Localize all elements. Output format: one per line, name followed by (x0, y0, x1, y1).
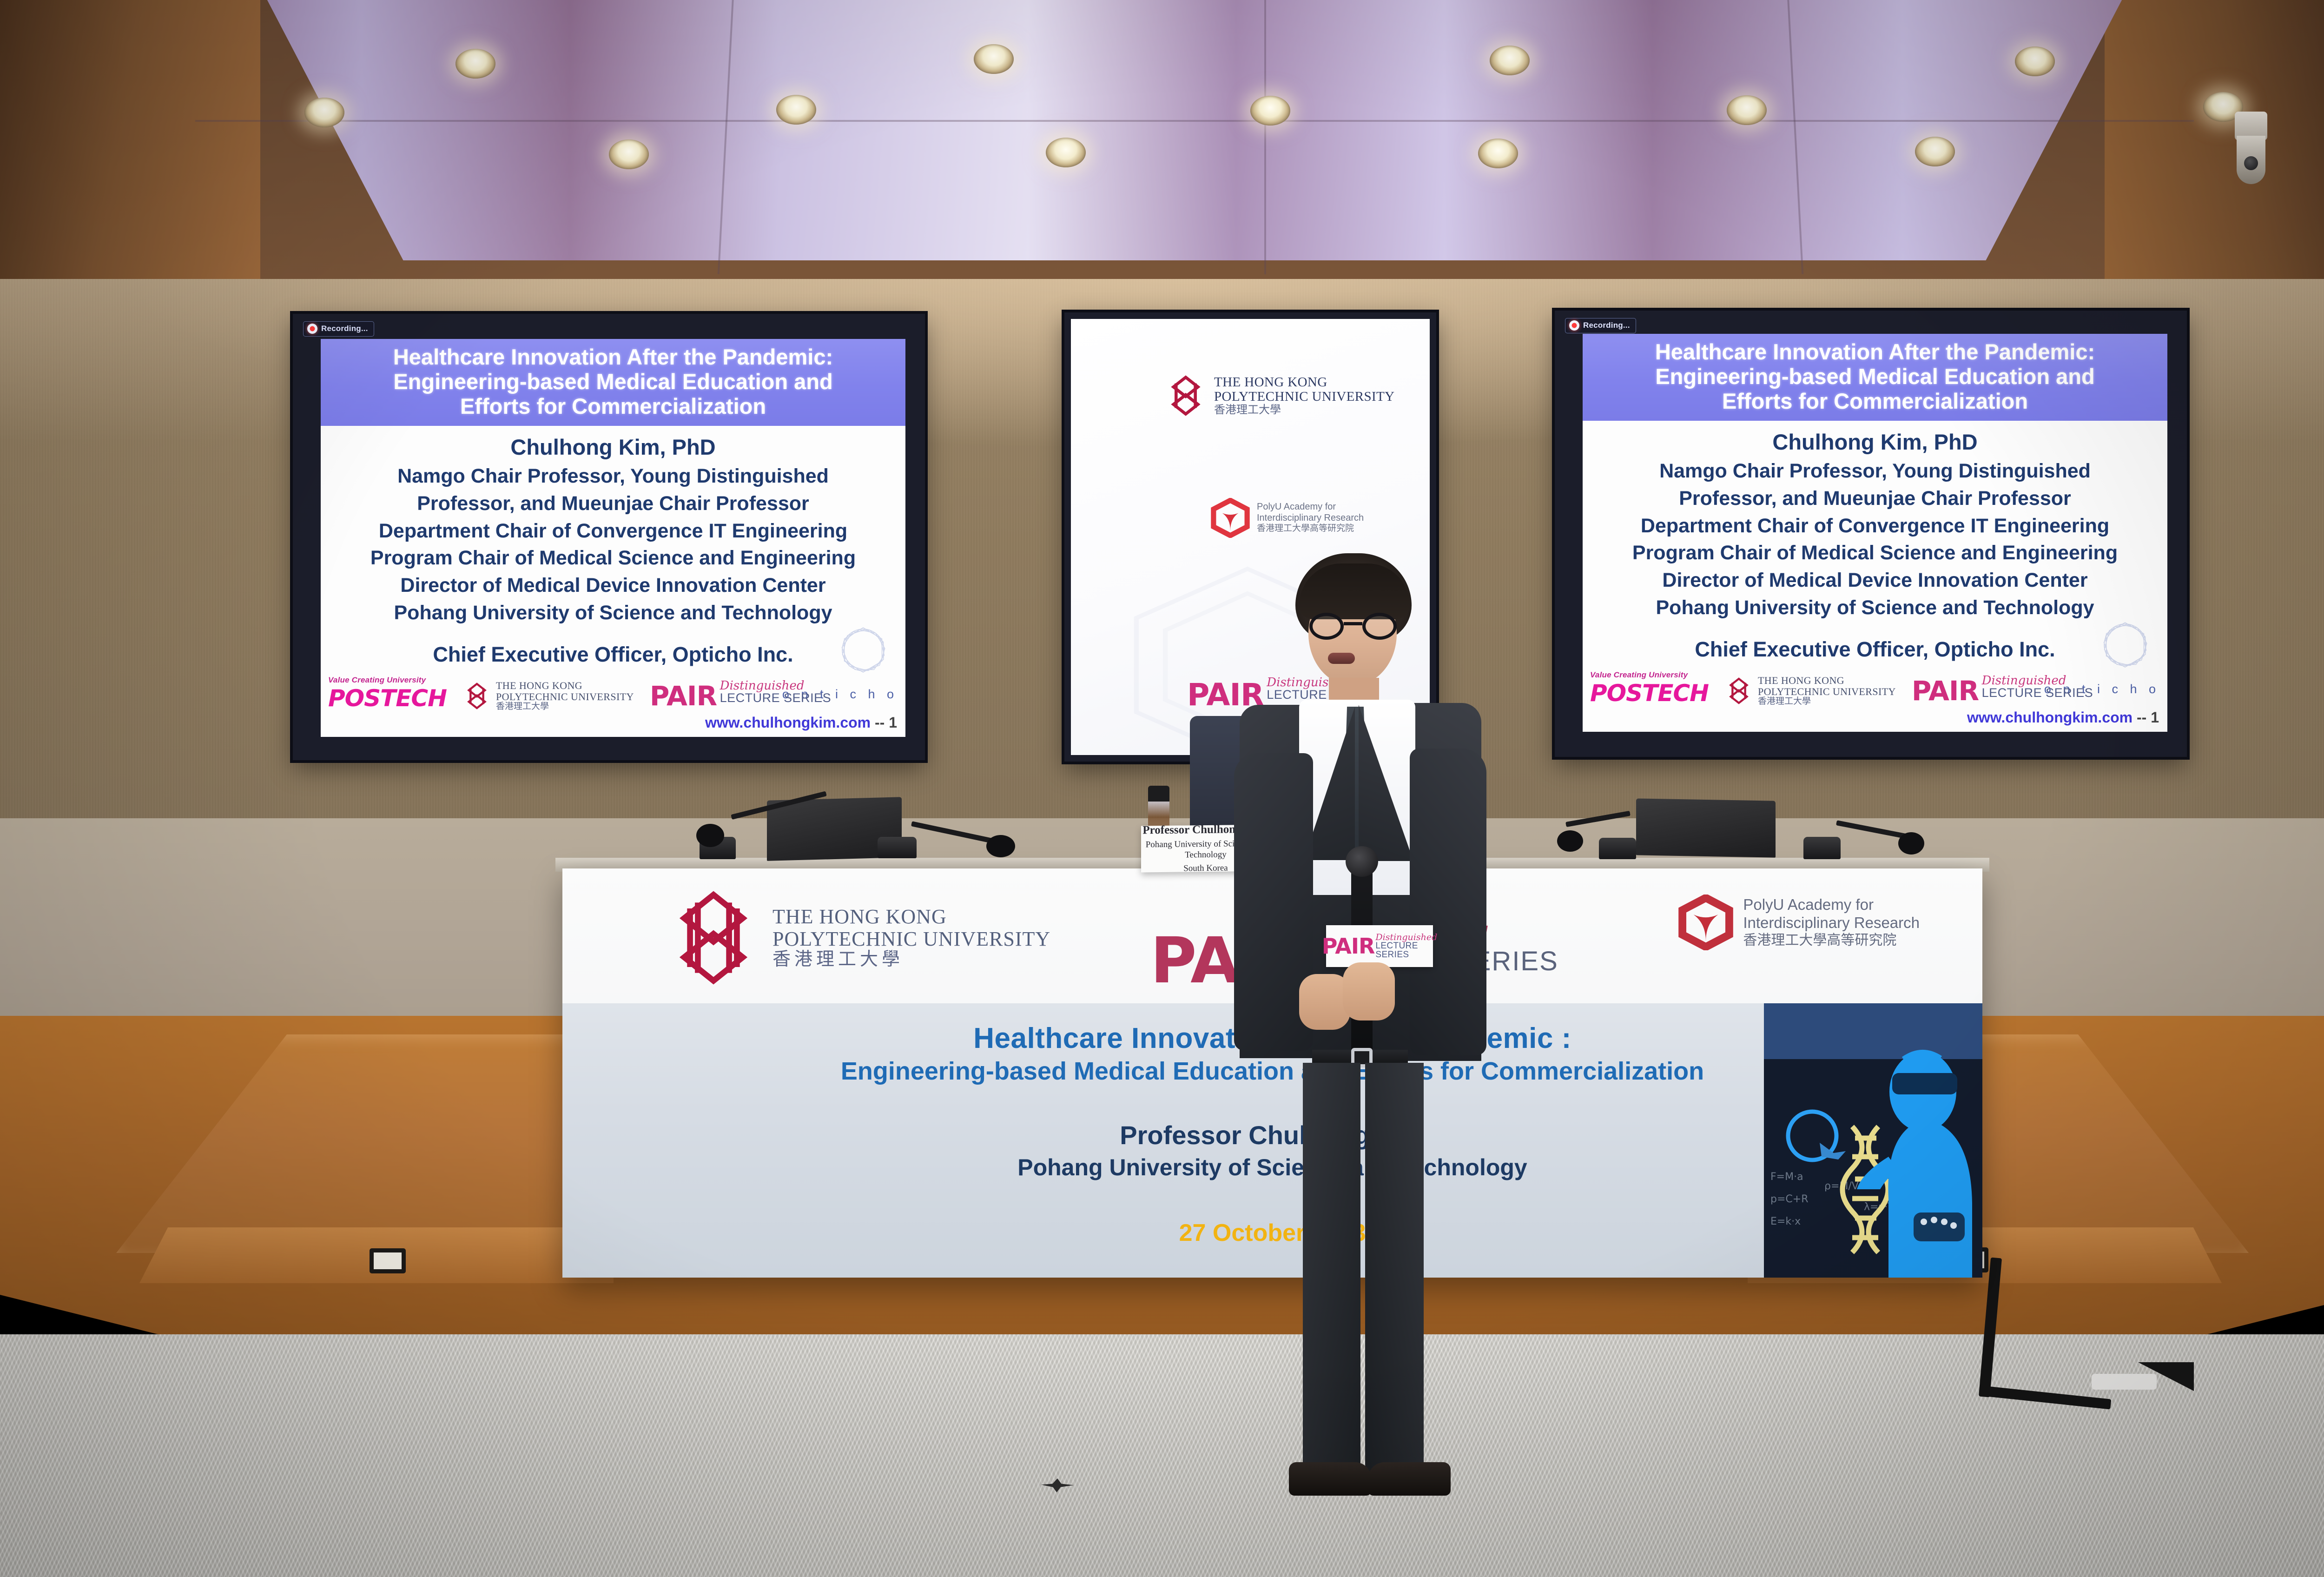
shoe-right (1368, 1462, 1451, 1496)
polyu-chinese: 香港理工大學 (496, 702, 634, 712)
academy-line2: Interdisciplinary Research (1257, 513, 1364, 524)
center-polyu-logo: THE HONG KONG POLYTECHNIC UNIVERSITY 香港理… (1164, 374, 1395, 417)
banner-academy-wordmark: PolyU Academy for Interdisciplinary Rese… (1743, 896, 1920, 948)
academy-line1: PolyU Academy for (1743, 896, 1920, 914)
polyu-line2: POLYTECHNIC UNIVERSITY (496, 691, 634, 702)
nameplate-line3: South Korea (1183, 862, 1228, 874)
desk-mic-head (1898, 832, 1924, 855)
pair-lecture-series: LECTURE SERIES (720, 692, 832, 704)
slide-left: Healthcare Innovation After the Pandemic… (321, 339, 905, 737)
polyu-logo: THE HONG KONG POLYTECHNIC UNIVERSITY 香港理… (1724, 675, 1896, 707)
vr-figure-dna-icon: F=M·a p=C+R E=k·x ρ=M/V λ=υ·T Δ/Δt J=l·ω (1764, 1003, 1982, 1278)
ptz-dome-camera-icon (2235, 112, 2267, 186)
svg-text:F=M·a: F=M·a (1770, 1171, 1803, 1183)
desk-mic-head (1557, 830, 1583, 852)
academy-chinese: 香港理工大學高等研究院 (1257, 523, 1364, 534)
cable-cover (2092, 1374, 2157, 1390)
svg-text:p=C+R: p=C+R (1770, 1193, 1808, 1205)
polyu-chinese: 香港理工大學 (1758, 697, 1896, 707)
slide-speaker-block: Chulhong Kim, PhD Namgo Chair Professor,… (321, 426, 905, 627)
center-academy-wordmark: PolyU Academy for Interdisciplinary Rese… (1257, 502, 1364, 534)
speaker-mouth (1328, 653, 1355, 664)
slide-affiliation: Director of Medical Device Innovation Ce… (321, 572, 905, 599)
pair-cube-icon (1210, 498, 1250, 538)
water-bottle-cap (1148, 786, 1169, 802)
slide-speaker-name: Chulhong Kim, PhD (321, 432, 905, 462)
slide-affiliation: Director of Medical Device Innovation Ce… (1583, 567, 2167, 594)
pair-wordmark: PAIR (650, 680, 717, 712)
slide-page-number: -- 1 (2137, 709, 2159, 726)
polyu-wordmark: THE HONG KONG POLYTECHNIC UNIVERSITY 香港理… (1758, 675, 1896, 707)
slide-affiliation: Professor, and Mueunjae Chair Professor (1583, 485, 2167, 512)
pair-distinguished: Distinguished (720, 680, 832, 692)
eyeglasses-icon (1309, 613, 1397, 640)
polyu-knot-icon (1164, 374, 1208, 417)
postech-logo: Value Creating University POSTECH (1590, 670, 1709, 707)
slide-title-line2: Engineering-based Medical Education and (327, 369, 899, 394)
center-academy-logo: PolyU Academy for Interdisciplinary Rese… (1210, 498, 1364, 538)
banner-polyu-wordmark: THE HONG KONG POLYTECHNIC UNIVERSITY 香港理… (772, 906, 1050, 969)
left-projection-screen[interactable]: Recording... Healthcare Innovation After… (293, 314, 925, 760)
slide-logo-row: Value Creating University POSTECH THE HO… (1583, 670, 2167, 707)
recording-badge: Recording... (303, 321, 374, 337)
slide-title-line1: Healthcare Innovation After the Pandemic… (327, 345, 899, 369)
ceiling-wood-left (0, 0, 260, 298)
pair-cube-icon (1678, 895, 1734, 950)
laptop-right[interactable] (1636, 798, 1776, 857)
polyu-knot-icon (462, 682, 491, 710)
polyu-logo: THE HONG KONG POLYTECHNIC UNIVERSITY 香港理… (462, 680, 634, 712)
academy-chinese: 香港理工大學高等研究院 (1743, 932, 1920, 948)
polyu-line1: THE HONG KONG (1214, 375, 1395, 390)
slide-url-text: www.chulhongkim.com (705, 714, 871, 731)
slide-affiliation: Professor, and Mueunjae Chair Professor (321, 490, 905, 517)
slide-affiliation: Department Chair of Convergence IT Engin… (321, 517, 905, 545)
postech-logo: Value Creating University POSTECH (328, 676, 447, 712)
ceiling-downlight (1915, 137, 1955, 166)
academy-line1: PolyU Academy for (1257, 502, 1364, 513)
slide-affiliation: Department Chair of Convergence IT Engin… (1583, 512, 2167, 540)
polyu-knot-icon (665, 889, 762, 987)
slide-title-line2: Engineering-based Medical Education and (1589, 364, 2161, 389)
speaker-person: PAIR Distinguished LECTURE SERIES (1229, 553, 1490, 1516)
slide-speaker-name: Chulhong Kim, PhD (1583, 427, 2167, 457)
shoe-left (1289, 1462, 1372, 1496)
polyu-chinese: 香港理工大學 (1214, 404, 1395, 416)
slide-title-band: Healthcare Innovation After the Pandemic… (1583, 334, 2167, 421)
banner-polyu-logo: THE HONG KONG POLYTECHNIC UNIVERSITY 香港理… (665, 889, 1050, 987)
postech-tagline: Value Creating University (1590, 670, 1709, 680)
academy-line2: Interdisciplinary Research (1743, 914, 1920, 932)
microphone-flag: PAIR Distinguished LECTURE SERIES (1326, 925, 1433, 967)
slide-title-line3: Efforts for Commercialization (1589, 389, 2161, 413)
postech-wordmark: POSTECH (1590, 680, 1709, 707)
pair-distinguished: Distinguished (1982, 675, 2093, 687)
polyu-line2: POLYTECHNIC UNIVERSITY (772, 928, 1050, 950)
svg-text:E=k·x: E=k·x (1770, 1216, 1801, 1227)
slide-right: Healthcare Innovation After the Pandemic… (1583, 334, 2167, 732)
trouser-leg-left (1303, 1063, 1360, 1472)
slide-logo-row: Value Creating University POSTECH THE HO… (321, 676, 905, 712)
postech-tagline: Value Creating University (328, 676, 447, 685)
polyu-chinese: 香港理工大學 (772, 950, 1050, 969)
opticho-mandala-icon (828, 615, 898, 685)
right-projection-screen[interactable]: Recording... Healthcare Innovation After… (1555, 311, 2187, 757)
banner-artwork: F=M·a p=C+R E=k·x ρ=M/V λ=υ·T Δ/Δt J=l·ω (1764, 1003, 1982, 1278)
trouser-leg-right (1365, 1063, 1424, 1472)
slide-page-number: -- 1 (875, 714, 897, 731)
center-polyu-wordmark: THE HONG KONG POLYTECHNIC UNIVERSITY 香港理… (1214, 375, 1395, 417)
lecture-hall-scene: Recording... Healthcare Innovation After… (0, 0, 2324, 1577)
ceiling-downlight (456, 49, 495, 79)
slide-speaker-block: Chulhong Kim, PhD Namgo Chair Professor,… (1583, 421, 2167, 622)
slide-url: www.chulhongkim.com -- 1 (705, 714, 897, 731)
carpet-floor (0, 1334, 2324, 1577)
slide-url: www.chulhongkim.com -- 1 (1967, 709, 2159, 726)
desk-mic-head (696, 824, 724, 847)
ceiling-downlight (2015, 46, 2055, 76)
ceiling-downlight (974, 44, 1014, 74)
record-dot-icon (1569, 320, 1579, 331)
desk-mic-base (878, 837, 917, 858)
pair-distinguished: Distinguished (1375, 933, 1437, 941)
ceiling-downlight (776, 95, 816, 125)
ceiling-downlight (304, 98, 344, 127)
ceiling-seam (1264, 0, 1266, 274)
record-dot-icon (307, 324, 317, 334)
ceiling-wood-right (2105, 0, 2324, 298)
polyu-line1: THE HONG KONG (1758, 675, 1896, 686)
pair-wordmark: PAIR (1912, 675, 1979, 707)
slide-affiliation: Program Chair of Medical Science and Eng… (1583, 539, 2167, 567)
slide-title-line3: Efforts for Commercialization (327, 394, 899, 418)
slide-title-band: Healthcare Innovation After the Pandemic… (321, 339, 905, 426)
ceiling (0, 0, 2324, 298)
arm-right (1410, 749, 1486, 1055)
ceiling-downlight (1727, 95, 1767, 125)
pair-wordmark: PAIR (1322, 934, 1375, 959)
polyu-knot-icon (1724, 676, 1753, 705)
slide-affiliation: Namgo Chair Professor, Young Distinguish… (321, 463, 905, 490)
slide-title-line1: Healthcare Innovation After the Pandemic… (1589, 339, 2161, 364)
polyu-line1: THE HONG KONG (496, 680, 634, 691)
pair-lecture-series: LECTURE SERIES (1375, 941, 1437, 959)
pair-lecture-series: LECTURE SERIES (1982, 687, 2093, 699)
recording-badge: Recording... (1565, 318, 1636, 333)
pair-logo: PAIR Distinguished LECTURE SERIES (650, 680, 831, 712)
ceiling-seam (195, 120, 2194, 122)
slide-url-text: www.chulhongkim.com (1967, 709, 2133, 726)
polyu-line2: POLYTECHNIC UNIVERSITY (1758, 686, 1896, 697)
desk-mic-base (1803, 837, 1841, 859)
polyu-line2: POLYTECHNIC UNIVERSITY (1214, 390, 1395, 404)
pair-logo: PAIR Distinguished LECTURE SERIES (1912, 675, 2093, 707)
ceiling-downlight (609, 139, 649, 169)
ceiling-downlight (1478, 139, 1518, 168)
stage-step-light (370, 1248, 406, 1273)
slide-affiliation: Namgo Chair Professor, Young Distinguish… (1583, 457, 2167, 485)
opticho-mandala-icon (2090, 610, 2160, 680)
slide-affiliation: Program Chair of Medical Science and Eng… (321, 544, 905, 572)
ceiling-acoustic-panel (153, 0, 2236, 260)
recording-label: Recording... (321, 324, 368, 333)
banner-academy-logo: PolyU Academy for Interdisciplinary Rese… (1678, 895, 1920, 950)
postech-wordmark: POSTECH (328, 685, 447, 712)
recording-label: Recording... (1583, 321, 1630, 330)
microphone-head (1346, 846, 1378, 877)
speaker-hair-front (1299, 563, 1410, 619)
ceiling-downlight (1250, 96, 1290, 126)
polyu-line1: THE HONG KONG (772, 906, 1050, 928)
polyu-wordmark: THE HONG KONG POLYTECHNIC UNIVERSITY 香港理… (496, 680, 634, 712)
desk-mic-head (986, 835, 1015, 857)
desk-mic-base (1599, 838, 1636, 859)
hand-right (1343, 962, 1395, 1020)
ceiling-downlight (1490, 46, 1530, 75)
ceiling-downlight (1046, 138, 1086, 167)
